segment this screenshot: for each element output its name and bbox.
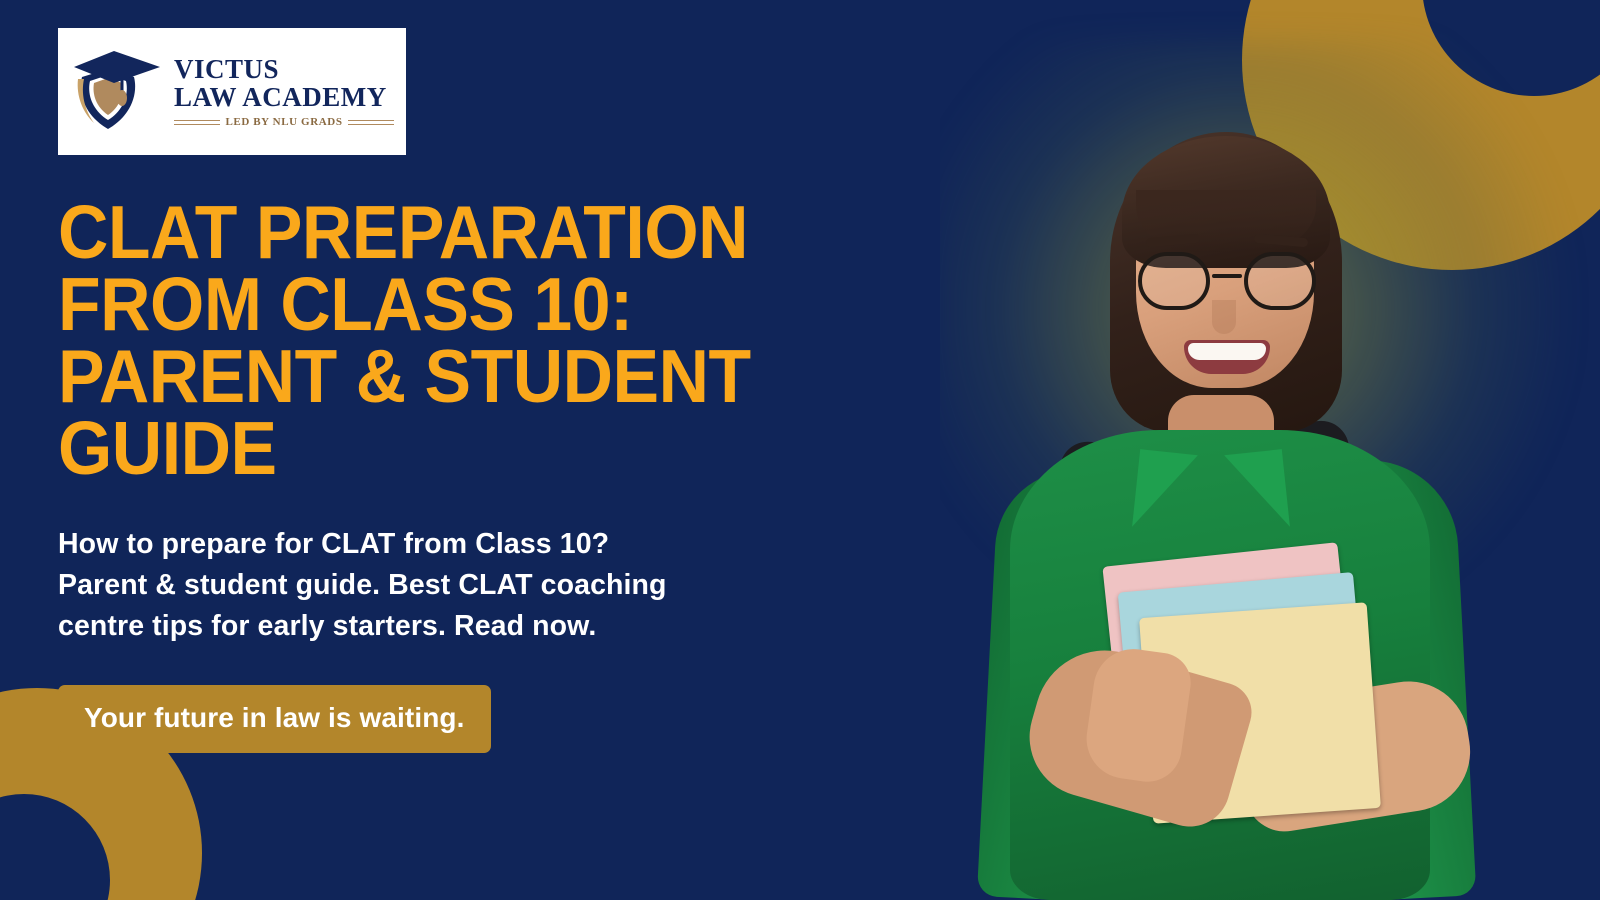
smiling-mouth — [1184, 340, 1270, 374]
nose — [1212, 300, 1236, 334]
brand-tagline-row: LED BY NLU GRADS — [174, 116, 394, 128]
page-title: CLAT PREPARATION FROM CLASS 10: PARENT &… — [58, 196, 923, 484]
brand-logo[interactable]: VICTUS LAW ACADEMY LED BY NLU GRADS — [58, 28, 406, 155]
student-figure — [940, 0, 1600, 900]
hero-subheadline: How to prepare for CLAT from Class 10? P… — [58, 524, 988, 647]
brand-name-line1: VICTUS — [174, 55, 394, 83]
brand-logo-text: VICTUS LAW ACADEMY LED BY NLU GRADS — [170, 55, 394, 128]
teeth — [1188, 343, 1266, 360]
tagline-rule-left — [174, 120, 220, 125]
promo-banner: VICTUS LAW ACADEMY LED BY NLU GRADS CLAT… — [0, 0, 1600, 900]
eyeglass-lens-left — [1138, 252, 1210, 310]
brand-tagline: LED BY NLU GRADS — [225, 116, 342, 128]
eyeglass-bridge — [1212, 274, 1242, 278]
hero-content: CLAT PREPARATION FROM CLASS 10: PARENT &… — [58, 196, 988, 753]
cta-button[interactable]: Your future in law is waiting. — [58, 685, 491, 753]
shirt-collar-left — [1132, 449, 1198, 533]
graduation-cap-shield-icon — [68, 41, 170, 143]
student-photo — [940, 0, 1600, 900]
eyeglass-lens-right — [1244, 252, 1316, 310]
brand-name-line2: LAW ACADEMY — [174, 83, 394, 111]
shirt-collar-right — [1224, 449, 1290, 533]
tagline-rule-right — [348, 120, 394, 125]
